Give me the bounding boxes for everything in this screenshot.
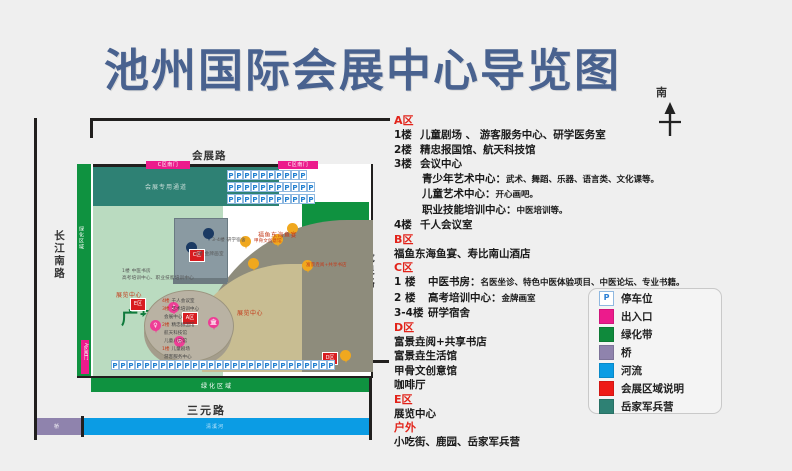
map-area-label-b: 福鱼东海鱼宴 [258,230,297,239]
guide-map-page: 池州国际会展中心导览图 南 会展路 三元路 长江南路 龙泉路 鹿园 [0,0,792,471]
parking-cell[interactable]: P [287,360,295,370]
parking-row-bottom[interactable]: PPPPPPPPPPPPPPPPPPPPPPPPPPPP [111,360,361,371]
legend-item-river[interactable]: 河流 [599,362,721,379]
map-pin-info[interactable]: ♀ [150,320,161,334]
parking-cell[interactable]: P [275,194,283,204]
parking-cell[interactable]: P [275,170,283,180]
zone-id-b: B区 [394,233,413,246]
map-text-dorm: 3-4楼 研学宿舍 [212,237,246,243]
parking-cell[interactable]: P [279,360,287,370]
floor-text: 会议中心 [420,158,462,170]
parking-row-top-2[interactable]: PPPPPPPPPPP [227,182,319,192]
zone-id-a: A区 [394,114,414,127]
parking-cell[interactable]: P [251,194,259,204]
parking-cell[interactable]: P [175,360,183,370]
zone-id-outdoor: 户外 [394,421,416,434]
parking-cell[interactable]: P [143,360,151,370]
floor-subtext: 开心画吧。 [496,190,539,200]
parking-cell[interactable]: P [251,170,259,180]
legend-item-barracks[interactable]: 岳家军兵营 [599,398,721,415]
floor-name: 艺术培训中心 [172,307,200,312]
parking-cell[interactable]: P [223,360,231,370]
parking-cell[interactable]: P [215,360,223,370]
zone-a-line-6: 职业技能培训中心：中医培训等。 [394,203,694,219]
zone-a-line-4: 青少年艺术中心：武术、舞蹈、乐器、语言类、文化课等。 [394,172,694,188]
floor-name: 儿童剧场 [172,347,190,352]
parking-cell[interactable]: P [243,182,251,192]
floor-name: 儿童八它馆 [164,339,187,344]
legend-label: 出入口 [621,309,653,324]
parking-cell[interactable]: P [239,360,247,370]
road-label-bottom: 三元路 [187,402,226,418]
title-bar: 池州国际会展中心导览图 南 [0,40,792,102]
bridge-block: 桥 [37,418,81,435]
road-label-top: 会展路 [192,148,227,163]
floor-text: 千人会议室 [420,219,473,231]
map-text-studio: 2楼 金牌画室 [195,251,224,257]
legend-item-expo-area[interactable]: 会展区域说明 [599,380,721,397]
floor-num: 2楼 [162,323,170,328]
floor-text: 儿童艺术中心： [422,188,496,200]
parking-cell[interactable]: P [255,360,263,370]
floor-name: 航天科技馆 [164,331,187,336]
parking-cell[interactable]: P [231,360,239,370]
parking-cell[interactable]: P [319,360,327,370]
legend-label: 河流 [621,363,642,378]
floor-callout-row: 儿童八它馆 [162,338,258,346]
floor-text: 中医书房： [428,276,481,288]
floor-callout-row: 4楼千人会议室 [162,298,258,306]
legend-item-green-belt[interactable]: 绿化带 [599,326,721,343]
parking-cell[interactable]: P [299,182,307,192]
parking-cell[interactable]: P [259,182,267,192]
expo-area-swatch [599,381,614,396]
parking-cell[interactable]: P [295,360,303,370]
floor-text: 精忠报国馆、航天科技馆 [420,144,536,156]
parking-cell[interactable]: P [283,170,291,180]
floor-label: 2楼 [394,143,420,158]
zone-heading-a: A区 [394,114,694,128]
floor-subtext: 金牌画室 [502,294,536,304]
gate-tag-west[interactable]: A区西门 [81,340,89,374]
parking-cell[interactable]: P [247,360,255,370]
zone-heading-c: C区 [394,261,694,275]
floor-callout-row: 3楼艺术培训中心 [162,306,258,314]
legend-label: 岳家军兵营 [621,399,674,414]
zone-a-line-3: 3楼会议中心 [394,157,694,172]
parking-cell[interactable]: P [259,170,267,180]
parking-cell[interactable]: P [199,360,207,370]
parking-cell[interactable]: P [235,194,243,204]
zone-heading-outdoor: 户外 [394,421,694,435]
river-swatch [599,363,614,378]
floor-text: 职业技能培训中心： [422,204,517,216]
legend-item-entrance[interactable]: 出入口 [599,308,721,325]
parking-cell[interactable]: P [227,194,235,204]
parking-cell[interactable]: P [267,182,275,192]
zone-a-line-1: 1楼儿童剧场 、 游客服务中心、研学医务室 [394,128,694,143]
parking-cell[interactable]: P [307,194,315,204]
legend-item-parking[interactable]: P 停车位 [599,290,721,307]
green-belt-left-label: 绿化区域 [78,226,85,250]
parking-cell[interactable]: P [291,170,299,180]
floor-label: 3-4楼 [394,306,428,321]
floor-callout-row: 航天科技馆 [162,330,258,338]
floor-text: 高考培训中心： [428,292,502,304]
floor-num: 1楼 [162,347,170,352]
parking-cell[interactable]: P [327,360,335,370]
barracks-swatch [599,399,614,414]
road-label-left: 长江南路 [52,230,67,280]
road-line-left [34,118,37,440]
bridge-label: 桥 [54,423,59,430]
parking-cell[interactable]: P [111,360,119,370]
floor-name: 精忠报国馆 [172,323,195,328]
floor-callout-row: 会展中心 [162,314,258,322]
parking-cell[interactable]: P [183,360,191,370]
road-line-top-stub [90,118,93,138]
green-belt-swatch [599,327,614,342]
floor-label: 3楼 [394,157,420,172]
parking-cell[interactable]: P [267,170,275,180]
floor-label: 2 楼 [394,291,428,306]
parking-cell[interactable]: P [235,182,243,192]
pin-tip-icon [244,243,248,249]
parking-cell[interactable]: P [135,360,143,370]
pin-tip-icon [252,265,256,271]
parking-cell[interactable]: P [251,182,259,192]
legend-label: 绿化带 [621,327,653,342]
parking-cell[interactable]: P [299,194,307,204]
floor-text: 研学宿舍 [428,307,470,319]
parking-cell[interactable]: P [275,182,283,192]
parking-cell[interactable]: P [271,360,279,370]
floor-name: 千人会议室 [172,299,195,304]
parking-cell[interactable]: P [291,194,299,204]
legend-label: 会展区域说明 [621,381,684,396]
parking-cell[interactable]: P [267,194,275,204]
zone-a-line-7: 4楼千人会议室 [394,218,694,233]
parking-cell[interactable]: P [311,360,319,370]
parking-cell[interactable]: P [151,360,159,370]
parking-cell[interactable]: P [299,170,307,180]
floor-callout-row: 1楼儿童剧场 [162,346,258,354]
parking-cell[interactable]: P [263,360,271,370]
zone-id-e: E区 [394,393,413,406]
page-title: 池州国际会展中心导览图 [104,40,649,102]
road-line-top [90,118,390,121]
parking-cell[interactable]: P [235,170,243,180]
green-belt-bottom-label: 绿化区域 [201,381,233,390]
green-belt-bottom: 绿化区域 [91,378,369,392]
floor-text: 儿童剧场 、 游客服务中心、研学医务室 [420,129,606,141]
parking-cell[interactable]: P [207,360,215,370]
parking-cell[interactable]: P [119,360,127,370]
zone-id-d: D区 [394,321,414,334]
floor-subtext: 名医坐诊、特色中医体验项目、中医论坛、专业书籍。 [481,278,685,288]
map-text-bookstore: 富景垚阅+共享书店 [306,262,347,268]
map-legend: P 停车位 出入口 绿化带 桥 河流 会展区域说明 岳家军兵营 [588,288,722,414]
pin-tip-icon [207,235,211,241]
zone-b-line-1: 福鱼东海鱼宴、寿比南山酒店 [394,247,694,262]
floor-subtext: 中医培训等。 [517,206,568,216]
barracks-strip-label: 会展专用通道 [145,182,187,191]
parking-row-top-3[interactable]: PPPPPPPPPPP [227,194,319,204]
parking-cell[interactable]: P [303,360,311,370]
floor-label: 4楼 [394,218,420,233]
parking-cell[interactable]: P [159,360,167,370]
bridge-swatch [599,345,614,360]
parking-cell[interactable]: P [291,182,299,192]
gate-tag-c-south-2[interactable]: C区南门 [278,161,318,169]
parking-cell[interactable]: P [243,170,251,180]
site-map[interactable]: 会展路 三元路 长江南路 龙泉路 鹿园 广场 绿化区域 ♪ [22,112,382,457]
floor-callout-row: 2楼精忠报国馆 [162,322,258,330]
floor-name: 会展中心 [164,315,182,320]
river-label: 清溪河 [206,423,224,430]
parking-cell[interactable]: P [227,170,235,180]
parking-cell[interactable]: P [283,182,291,192]
floor-text: 青少年艺术中心： [422,173,506,185]
info-icon: ♀ [150,320,161,331]
river-block: 清溪河 [84,418,369,435]
zone-id-c: C区 [394,261,413,274]
zone-a-line-5: 儿童艺术中心：开心画吧。 [394,187,694,203]
parking-cell[interactable]: P [227,182,235,192]
floor-subtext: 武术、舞蹈、乐器、语言类、文化课等。 [506,175,659,185]
map-text-training: 高考培训中心、职业技能培训中心 [122,275,194,281]
parking-cell[interactable]: P [243,194,251,204]
floor-num: 3楼 [162,307,170,312]
parking-icon: P [599,291,614,306]
map-text-tcm: 1楼 中医书房 [122,268,151,274]
zone-outdoor-line-1: 小吃街、鹿园、岳家军兵营 [394,435,694,450]
gate-tag-west-label: A区西门 [82,343,88,360]
zone-heading-b: B区 [394,233,694,247]
floor-num: 4楼 [162,299,170,304]
parking-cell[interactable]: P [283,194,291,204]
area-tag-e: E区 [130,298,146,311]
floor-label: 1 楼 [394,275,428,290]
map-pin-life-hall[interactable] [248,258,259,272]
floor-label: 1楼 [394,128,420,143]
parking-cell[interactable]: P [127,360,135,370]
parking-cell[interactable]: P [167,360,175,370]
zone-a-line-2: 2楼精忠报国馆、航天科技馆 [394,143,694,158]
legend-label: 停车位 [621,291,653,306]
legend-label: 桥 [621,345,632,360]
parking-cell[interactable]: P [307,182,315,192]
gate-tag-c-south[interactable]: C区南门 [146,161,190,169]
parking-row-top-1[interactable]: PPPPPPPPPP [227,170,307,180]
parking-cell[interactable]: P [191,360,199,370]
legend-item-bridge[interactable]: 桥 [599,344,721,361]
entrance-swatch [599,309,614,324]
parking-cell[interactable]: P [259,194,267,204]
